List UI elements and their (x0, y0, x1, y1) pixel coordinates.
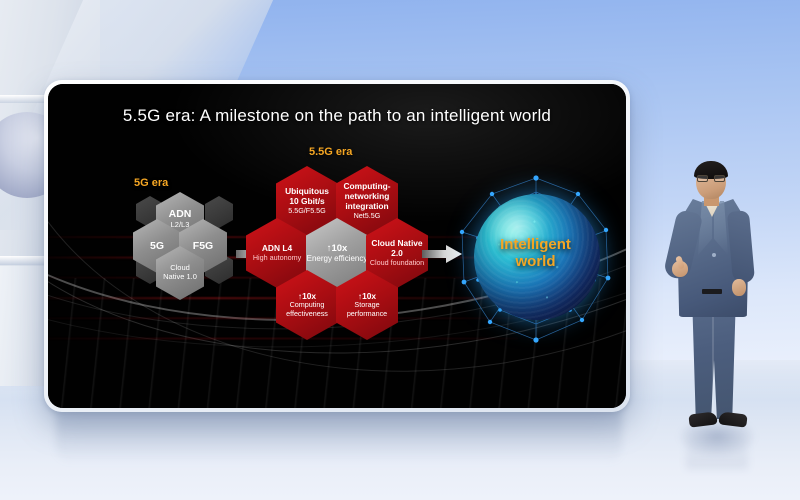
glasses-lens-right (714, 175, 725, 182)
hex-label-sub: High autonomy (253, 254, 301, 262)
screen-floor-reflection (56, 412, 622, 464)
hex-label-main: Cloud Native 2.0 (366, 239, 428, 259)
hex-label-main: F5G (193, 240, 213, 252)
intelligent-world-globe: Intelligent world (448, 174, 623, 349)
hex-label-main: ADN (169, 208, 192, 220)
hex-label-sub: Cloud foundation (370, 259, 424, 267)
globe-label-line1: Intelligent (448, 236, 623, 253)
presenter-jacket-button (712, 253, 716, 257)
hex-label-sub3: Net5.5G (354, 212, 381, 220)
presentation-slide: 5.5G era: A milestone on the path to an … (48, 84, 626, 408)
hex-label-sub2: performance (347, 310, 387, 318)
era-label-5g: 5G era (134, 177, 168, 189)
presenter-glasses (697, 175, 725, 183)
globe-label: Intelligent world (448, 236, 623, 271)
presenter-hand-left (732, 279, 746, 296)
hex-label-sub: Energy efficiency (307, 254, 368, 263)
display-screen-frame: 5.5G era: A milestone on the path to an … (44, 80, 630, 412)
hex-label-main: ↑10x (327, 243, 348, 254)
era-label-5-5g: 5.5G era (309, 146, 352, 158)
glasses-lens-left (697, 175, 708, 182)
presenter-belt (702, 289, 722, 294)
hex-label-sub2: effectiveness (286, 310, 328, 318)
hex-label-sub2: 5.5G/F5.5G (288, 207, 326, 215)
presenter-floor-reflection (686, 425, 748, 469)
hex-label-sub: Native 1.0 (163, 273, 197, 282)
globe-label-line2: world (448, 253, 623, 270)
hex-label-main: 5G (150, 240, 164, 252)
slide-title: 5.5G era: A milestone on the path to an … (48, 106, 626, 126)
presenter-figure (668, 163, 760, 455)
studio-stage: 5.5G era: A milestone on the path to an … (0, 0, 800, 500)
